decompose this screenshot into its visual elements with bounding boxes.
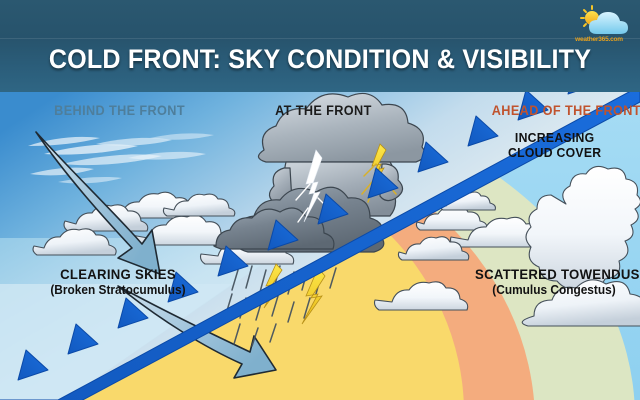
band-label-at-the-front: AT THE FRONT — [275, 103, 372, 118]
caption-left-title: CLEARING SKIES — [24, 266, 212, 282]
annotation-increasing-cloud-cover: INCREASING CLOUD COVER — [508, 130, 601, 160]
caption-scattered-towendus: SCATTERED TOWENDUS (Cumulus Congestus) — [470, 266, 638, 297]
infographic-root: weather365.com COLD FRONT: SKY CONDITION… — [0, 0, 640, 400]
weather365-logo[interactable]: weather365.com — [566, 5, 632, 43]
logo-wordmark: weather365.com — [566, 36, 632, 43]
caption-clearing-skies: CLEARING SKIES (Broken Stratocumulus) — [18, 266, 218, 297]
caption-left-subtitle: (Broken Stratocumulus) — [23, 283, 213, 297]
caption-right-title: SCATTERED TOWENDUS — [475, 266, 633, 282]
header-divider — [0, 38, 640, 39]
logo-mark-icon — [566, 5, 632, 37]
increasing-cloud-cover-line2: CLOUD COVER — [508, 145, 601, 160]
page-title: COLD FRONT: SKY CONDITION & VISIBILITY — [22, 44, 617, 75]
band-label-behind-the-front: BEHIND THE FRONT — [54, 103, 185, 118]
increasing-cloud-cover-line1: INCREASING — [515, 130, 595, 145]
caption-right-subtitle: (Cumulus Congestus) — [474, 283, 634, 297]
band-label-ahead-of-the-front: AHEAD OF THE FRONT — [492, 103, 640, 118]
header-bar: weather365.com COLD FRONT: SKY CONDITION… — [0, 0, 640, 92]
